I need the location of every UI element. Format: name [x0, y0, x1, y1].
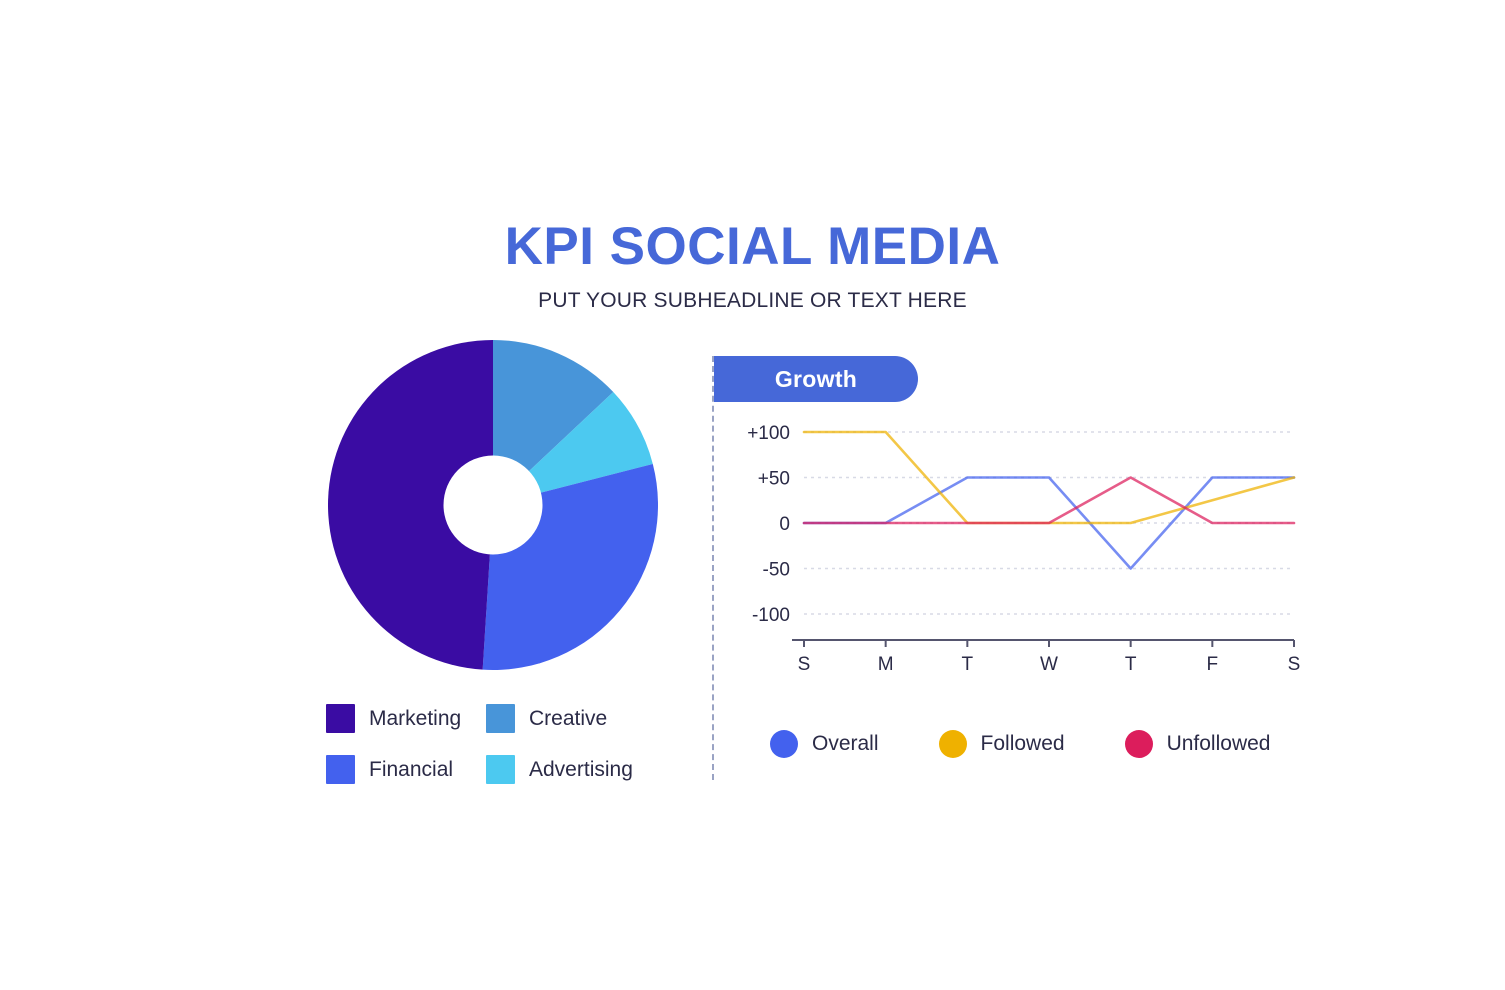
legend-item-creative[interactable]: Creative	[486, 704, 666, 733]
legend-label-financial: Financial	[369, 758, 453, 782]
growth-badge: Growth	[714, 356, 918, 402]
legend-swatch-marketing	[326, 704, 355, 733]
growth-badge-label: Growth	[775, 366, 857, 393]
legend-swatch-creative	[486, 704, 515, 733]
legend-item-marketing[interactable]: Marketing	[326, 704, 478, 733]
donut-hole	[444, 456, 543, 555]
y-axis-tick-label: +100	[747, 423, 790, 444]
y-axis-tick-label: 0	[779, 514, 790, 535]
y-axis-tick-label: -50	[763, 560, 790, 581]
line-chart: +100+500-50-100SMTWTFS	[742, 422, 1302, 672]
line-chart-svg: +100+500-50-100SMTWTFS	[742, 422, 1302, 672]
legend-dot-followed	[939, 730, 967, 758]
growth-chart-panel: Growth +100+500-50-100SMTWTFS Overall Fo…	[712, 356, 1312, 780]
x-axis-tick-label: T	[962, 654, 974, 675]
legend-item-financial[interactable]: Financial	[326, 755, 478, 784]
legend-label-marketing: Marketing	[369, 707, 461, 731]
legend-item-advertising[interactable]: Advertising	[486, 755, 666, 784]
page-subtitle: PUT YOUR SUBHEADLINE OR TEXT HERE	[0, 288, 1505, 314]
legend-item-unfollowed[interactable]: Unfollowed	[1125, 730, 1271, 758]
y-axis-tick-label: +50	[758, 469, 790, 490]
legend-item-overall[interactable]: Overall	[770, 730, 879, 758]
legend-label-creative: Creative	[529, 707, 607, 731]
donut-chart-panel: Marketing Creative Financial Advertising	[300, 340, 700, 780]
legend-label-overall: Overall	[812, 732, 879, 756]
legend-swatch-advertising	[486, 755, 515, 784]
line-series-unfollowed[interactable]	[804, 478, 1294, 524]
donut-legend: Marketing Creative Financial Advertising	[326, 704, 686, 784]
x-axis-tick-label: T	[1125, 654, 1137, 675]
legend-label-followed: Followed	[981, 732, 1065, 756]
x-axis-tick-label: F	[1207, 654, 1219, 675]
header: KPI SOCIAL MEDIA PUT YOUR SUBHEADLINE OR…	[0, 218, 1505, 314]
y-axis-tick-label: -100	[752, 605, 790, 626]
line-chart-legend: Overall Followed Unfollowed	[770, 730, 1270, 758]
legend-dot-overall	[770, 730, 798, 758]
donut-chart	[328, 340, 658, 670]
x-axis-tick-label: S	[1288, 654, 1301, 675]
x-axis-tick-label: W	[1040, 654, 1058, 675]
legend-label-unfollowed: Unfollowed	[1167, 732, 1271, 756]
infographic-canvas: KPI SOCIAL MEDIA PUT YOUR SUBHEADLINE OR…	[0, 0, 1505, 990]
x-axis-tick-label: S	[798, 654, 811, 675]
legend-label-advertising: Advertising	[529, 758, 633, 782]
page-title: KPI SOCIAL MEDIA	[0, 218, 1505, 276]
donut-chart-svg	[328, 340, 658, 670]
legend-dot-unfollowed	[1125, 730, 1153, 758]
x-axis-tick-label: M	[878, 654, 894, 675]
legend-item-followed[interactable]: Followed	[939, 730, 1065, 758]
legend-swatch-financial	[326, 755, 355, 784]
